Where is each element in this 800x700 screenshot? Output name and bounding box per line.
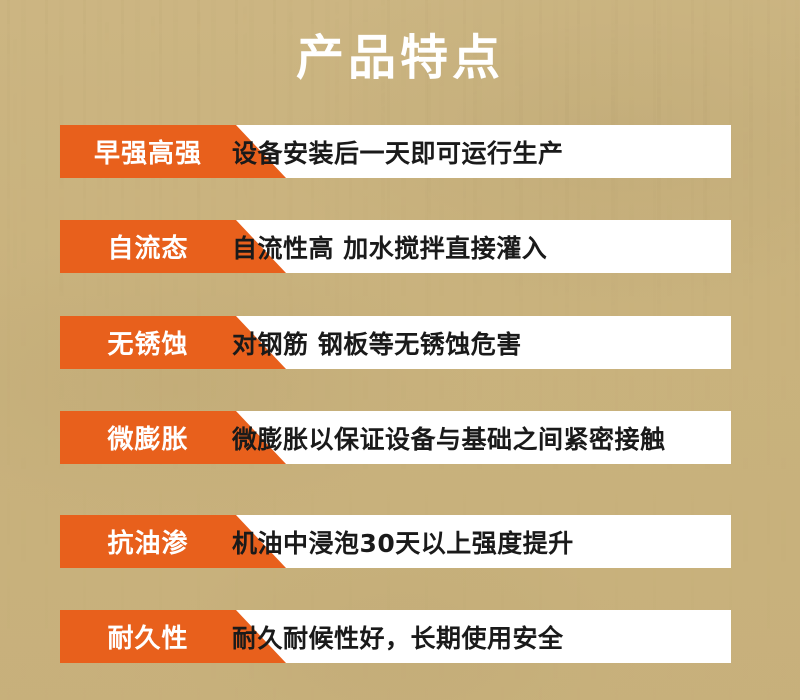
- feature-description: 自流性高 加水搅拌直接灌入: [232, 220, 547, 273]
- feature-description: 机油中浸泡30天以上强度提升: [232, 515, 574, 568]
- feature-list: 早强高强设备安装后一天即可运行生产自流态自流性高 加水搅拌直接灌入无锈蚀对钢筋 …: [0, 0, 800, 700]
- feature-tag-label: 无锈蚀: [60, 316, 236, 369]
- feature-tag-label: 耐久性: [60, 610, 236, 663]
- feature-tag-label: 抗油渗: [60, 515, 236, 568]
- feature-row[interactable]: 微膨胀微膨胀以保证设备与基础之间紧密接触: [60, 411, 731, 464]
- feature-row[interactable]: 自流态自流性高 加水搅拌直接灌入: [60, 220, 731, 273]
- feature-row[interactable]: 早强高强设备安装后一天即可运行生产: [60, 125, 731, 178]
- feature-tag-label: 早强高强: [60, 125, 236, 178]
- feature-description: 耐久耐候性好，长期使用安全: [232, 610, 564, 663]
- product-features-poster: 产品特点 早强高强设备安装后一天即可运行生产自流态自流性高 加水搅拌直接灌入无锈…: [0, 0, 800, 700]
- feature-row[interactable]: 抗油渗机油中浸泡30天以上强度提升: [60, 515, 731, 568]
- feature-description: 微膨胀以保证设备与基础之间紧密接触: [232, 411, 666, 464]
- feature-description: 设备安装后一天即可运行生产: [232, 125, 564, 178]
- feature-description: 对钢筋 钢板等无锈蚀危害: [232, 316, 522, 369]
- feature-row[interactable]: 无锈蚀对钢筋 钢板等无锈蚀危害: [60, 316, 731, 369]
- feature-tag-label: 微膨胀: [60, 411, 236, 464]
- feature-tag-label: 自流态: [60, 220, 236, 273]
- feature-row[interactable]: 耐久性耐久耐候性好，长期使用安全: [60, 610, 731, 663]
